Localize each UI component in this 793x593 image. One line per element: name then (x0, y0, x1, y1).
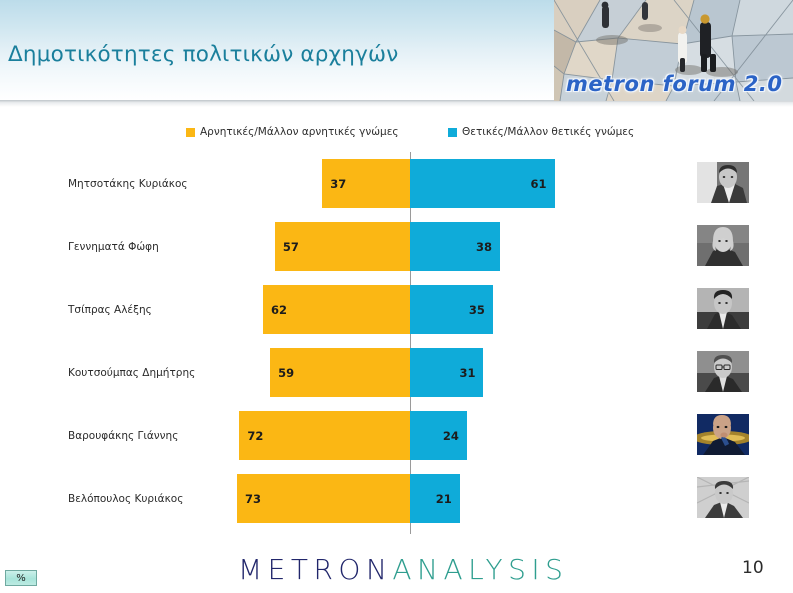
bar-negative-2[interactable]: 62 (263, 285, 410, 334)
portrait-koutsoumpas-icon (697, 351, 749, 392)
bar-negative-1[interactable]: 57 (275, 222, 410, 271)
bar-value-positive-3: 31 (459, 366, 475, 380)
portrait-varoufakis (697, 414, 749, 455)
portrait-koutsoumpas (697, 351, 749, 392)
category-label-5: Βελόπουλος Κυριάκος (68, 493, 183, 505)
chart-legend: Αρνητικές/Μάλλον αρνητικές γνώμες Θετικέ… (186, 124, 636, 144)
portrait-mitsotakis (697, 162, 749, 203)
portrait-velopoulos-icon (697, 477, 749, 518)
logo-analysis: ANALYSIS (392, 553, 568, 586)
bar-value-negative-0: 37 (330, 177, 346, 191)
legend-swatch-negative-icon (186, 128, 195, 137)
bar-negative-4[interactable]: 72 (239, 411, 410, 460)
portrait-gennimata (697, 225, 749, 266)
category-label-0: Μητσοτάκης Κυριάκος (68, 178, 188, 190)
bar-value-positive-4: 24 (443, 429, 459, 443)
bar-positive-0[interactable]: 61 (410, 159, 555, 208)
portrait-varoufakis-icon (697, 414, 749, 455)
slide-root: Δημοτικότητες πολιτικών αρχηγών (0, 0, 793, 593)
leader-portraits (697, 152, 757, 534)
percent-badge[interactable]: % (5, 570, 37, 586)
legend-label-negative: Αρνητικές/Μάλλον αρνητικές γνώμες (200, 126, 399, 138)
bar-positive-3[interactable]: 31 (410, 348, 483, 397)
legend-label-positive: Θετικές/Μάλλον θετικές γνώμες (462, 126, 634, 138)
banner-title: metron forum 2.0 (566, 72, 782, 96)
bar-positive-5[interactable]: 21 (410, 474, 460, 523)
bar-value-negative-2: 62 (271, 303, 287, 317)
header-divider (0, 100, 793, 107)
bar-value-negative-5: 73 (245, 492, 261, 506)
chart-row-1: Γεννηματά Φώφη 57 38 (60, 215, 580, 278)
bar-negative-5[interactable]: 73 (237, 474, 410, 523)
category-label-4: Βαρουφάκης Γιάννης (68, 430, 178, 442)
portrait-tsipras (697, 288, 749, 329)
page-number: 10 (742, 558, 764, 578)
category-label-3: Κουτσούμπας Δημήτρης (68, 367, 195, 379)
bar-value-positive-2: 35 (469, 303, 485, 317)
logo-metron: METRON (238, 553, 392, 586)
chart-row-5: Βελόπουλος Κυριάκος 73 21 (60, 467, 580, 530)
page-title: Δημοτικότητες πολιτικών αρχηγών (8, 42, 398, 67)
bar-value-positive-5: 21 (436, 492, 452, 506)
legend-item-negative[interactable]: Αρνητικές/Μάλλον αρνητικές γνώμες (186, 126, 399, 138)
chart-row-4: Βαρουφάκης Γιάννης 72 24 (60, 404, 580, 467)
diverging-bar-chart: Μητσοτάκης Κυριάκος 37 61 Γεννηματά Φώφη… (60, 152, 580, 534)
bar-value-negative-3: 59 (278, 366, 294, 380)
metron-analysis-logo: METRONANALYSIS (238, 553, 558, 585)
legend-item-positive[interactable]: Θετικές/Μάλλον θετικές γνώμες (448, 126, 634, 138)
metron-forum-banner: metron forum 2.0 (554, 0, 793, 101)
legend-swatch-positive-icon (448, 128, 457, 137)
bar-positive-4[interactable]: 24 (410, 411, 467, 460)
category-label-2: Τσίπρας Αλέξης (68, 304, 152, 316)
chart-row-2: Τσίπρας Αλέξης 62 35 (60, 278, 580, 341)
bar-value-negative-4: 72 (247, 429, 263, 443)
portrait-velopoulos (697, 477, 749, 518)
bar-negative-3[interactable]: 59 (270, 348, 410, 397)
portrait-gennimata-icon (697, 225, 749, 266)
bar-value-negative-1: 57 (283, 240, 299, 254)
bar-positive-2[interactable]: 35 (410, 285, 493, 334)
bar-value-positive-0: 61 (531, 177, 547, 191)
category-label-1: Γεννηματά Φώφη (68, 241, 159, 253)
bar-negative-0[interactable]: 37 (322, 159, 410, 208)
chart-row-0: Μητσοτάκης Κυριάκος 37 61 (60, 152, 580, 215)
chart-row-3: Κουτσούμπας Δημήτρης 59 31 (60, 341, 580, 404)
portrait-tsipras-icon (697, 288, 749, 329)
bar-value-positive-1: 38 (476, 240, 492, 254)
portrait-mitsotakis-icon (697, 162, 749, 203)
bar-positive-1[interactable]: 38 (410, 222, 500, 271)
